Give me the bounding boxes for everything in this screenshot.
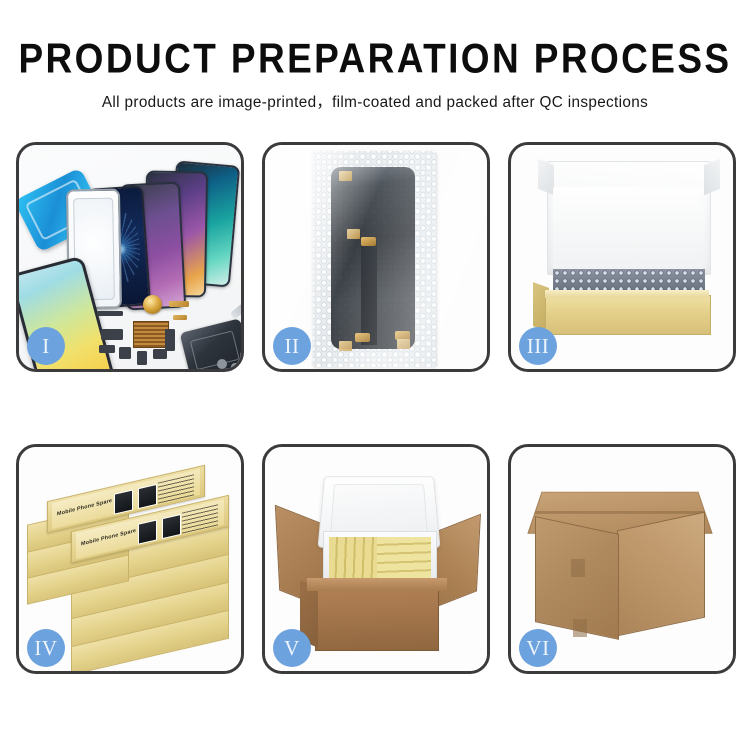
step-badge-4: IV: [27, 629, 65, 667]
step-badge-1: I: [27, 327, 65, 365]
process-step-panel-4: Mobile Phone Spare Parts Mobile Phone Sp…: [16, 444, 244, 674]
box-label-swatch-2: [162, 514, 181, 539]
part-strip-3: [99, 345, 115, 353]
step-badge-6: VI: [519, 629, 557, 667]
spare-parts-cluster: [97, 295, 241, 369]
part-screw-1: [217, 359, 227, 369]
step-badge-5: V: [273, 629, 311, 667]
page-header: PRODUCT PREPARATION PROCESS All products…: [0, 0, 750, 112]
process-step-grid: I II III: [16, 142, 736, 674]
process-step-panel-1: I: [16, 142, 244, 372]
box-label-swatch-1: [138, 519, 157, 544]
step-badge-3: III: [519, 327, 557, 365]
box-front-yellow: [545, 295, 711, 335]
page-subtitle: All products are image-printed，film-coat…: [0, 90, 750, 112]
phone-back-housing: [180, 318, 241, 369]
part-strip-4: [119, 347, 131, 359]
process-step-panel-2: II: [262, 142, 490, 372]
box-label-swatch-3: [114, 489, 133, 514]
part-strip-5: [137, 351, 147, 365]
step-badge-2: II: [273, 327, 311, 365]
part-gold-flex-2: [173, 315, 187, 320]
carton-tab-upper: [571, 559, 585, 577]
inner-boxes-row-2: [377, 537, 431, 579]
part-gold-flex-1: [169, 301, 189, 307]
carton-rim: [307, 578, 447, 591]
carton-tab-lower: [573, 619, 587, 637]
part-strip-1: [97, 311, 123, 316]
part-strip-7: [165, 329, 175, 351]
logic-board-part: [133, 321, 169, 348]
carton-right-face: [617, 512, 705, 637]
box-label-speclines-front: [182, 504, 218, 534]
part-strip-2: [101, 329, 123, 340]
page-title: PRODUCT PREPARATION PROCESS: [0, 38, 750, 82]
box-label-speclines-top: [158, 474, 194, 504]
camera-lens-part: [143, 295, 162, 314]
carton-body: [315, 587, 439, 651]
process-step-panel-5: V: [262, 444, 490, 674]
process-step-panel-3: III: [508, 142, 736, 372]
part-screw-2: [231, 363, 239, 369]
box-lip: [545, 290, 709, 298]
box-label-swatch-4: [138, 484, 157, 509]
foam-sheet: [553, 187, 703, 271]
process-step-panel-6: VI: [508, 444, 736, 674]
repair-tool: [230, 295, 241, 320]
